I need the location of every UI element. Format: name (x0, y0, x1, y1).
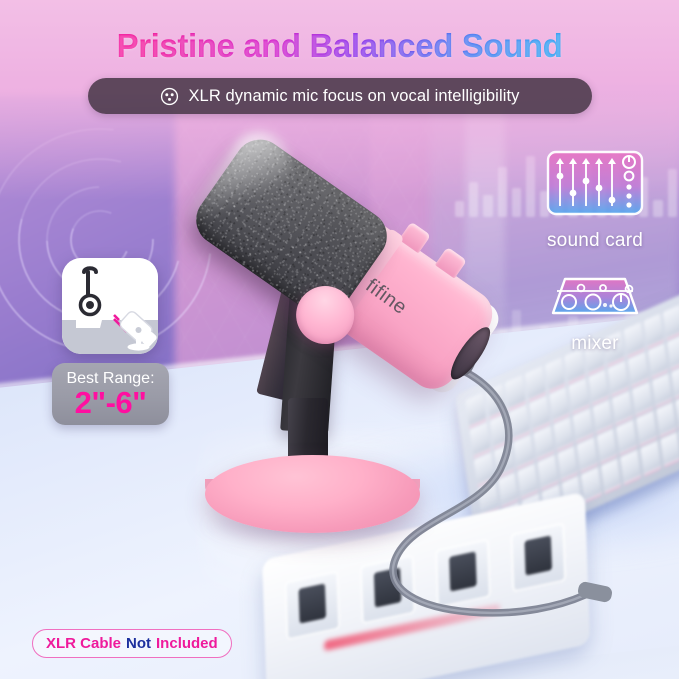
disclaimer-part-1: XLR Cable (46, 635, 121, 652)
disclaimer-part-2: Not (126, 635, 151, 652)
mixer-icon (545, 263, 645, 323)
disclaimer-part-3: Included (156, 635, 218, 652)
sound-card-icon (545, 148, 645, 220)
accessory-label-sound-card: sound card (520, 230, 670, 252)
xlr-connector-icon (160, 87, 179, 106)
product-marketing-image: fifine Pristine and Balanced Sound XLR d… (0, 0, 679, 679)
subtitle-text: XLR dynamic mic focus on vocal intelligi… (188, 87, 519, 106)
head-with-headphones-and-mic-distance-icon (62, 258, 158, 354)
best-range-value: 2"-6" (75, 387, 147, 419)
accessory-mixer: mixer (520, 263, 670, 355)
page-title: Pristine and Balanced Sound (0, 27, 679, 65)
best-range-title: Best Range: (66, 370, 154, 387)
best-range-badge: Best Range: 2"-6" (52, 363, 169, 425)
accessory-label-mixer: mixer (520, 333, 670, 355)
subtitle-pill: XLR dynamic mic focus on vocal intelligi… (88, 78, 592, 114)
accessory-sound-card: sound card (520, 148, 670, 252)
xlr-cable-disclaimer: XLR Cable Not Included (32, 629, 232, 658)
